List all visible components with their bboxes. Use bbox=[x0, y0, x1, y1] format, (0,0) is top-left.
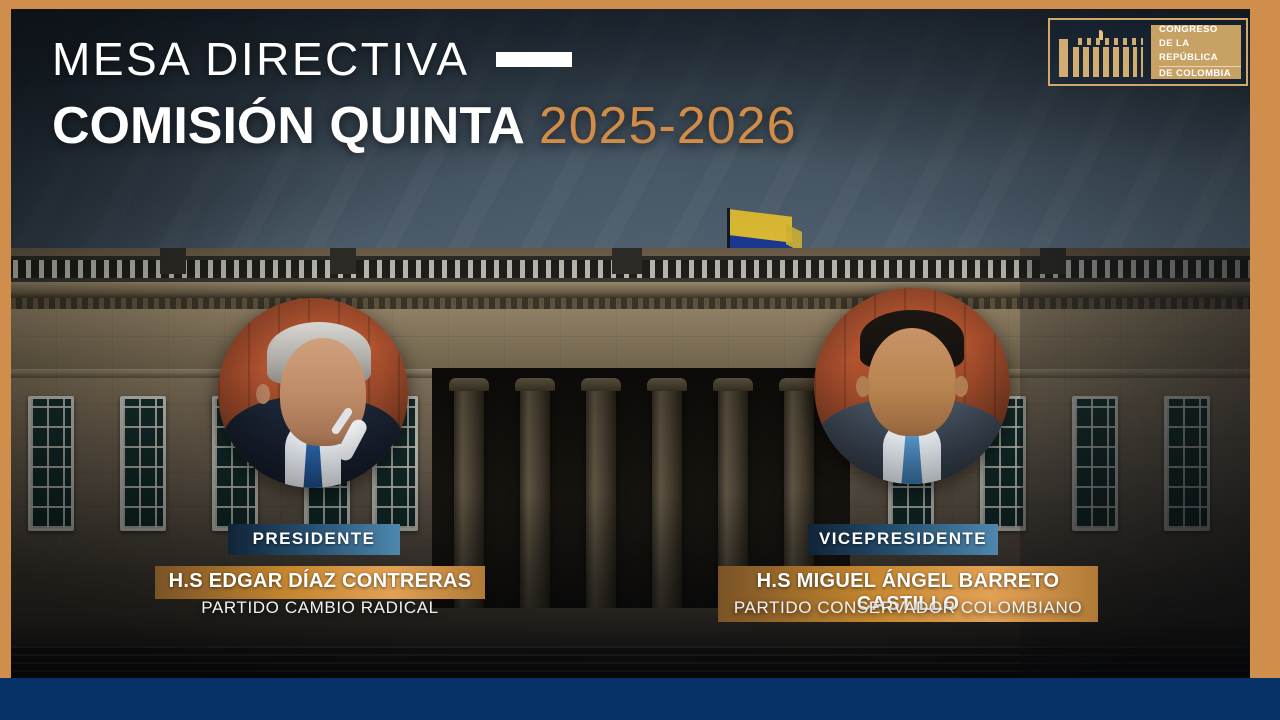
page-title: MESA DIRECTIVA COMISIÓN QUINTA2025-2026 bbox=[52, 36, 797, 152]
portrait-president bbox=[218, 298, 408, 488]
logo-line-1: CONGRESO bbox=[1159, 23, 1241, 37]
member-card-vicepresident bbox=[814, 288, 1010, 484]
portrait-vignette bbox=[218, 298, 408, 488]
capitol-building-icon bbox=[1055, 25, 1151, 79]
title-years: 2025-2026 bbox=[539, 97, 797, 155]
slide-canvas: MESA DIRECTIVA COMISIÓN QUINTA2025-2026 … bbox=[0, 0, 1280, 720]
frame-border-left bbox=[0, 0, 11, 678]
logo-line-2: DE LA REPÚBLICA bbox=[1159, 37, 1241, 67]
party-president: PARTIDO CAMBIO RADICAL bbox=[155, 598, 485, 618]
portrait-vicepresident bbox=[814, 288, 1010, 484]
title-line-1: MESA DIRECTIVA bbox=[52, 36, 470, 82]
logo-line-3: DE COLOMBIA bbox=[1159, 67, 1241, 81]
portrait-vignette bbox=[814, 288, 1010, 484]
title-line-2: COMISIÓN QUINTA bbox=[52, 97, 525, 155]
role-badge-vicepresident: VICEPRESIDENTE bbox=[808, 524, 998, 555]
name-bar-president: H.S EDGAR DÍAZ CONTRERAS bbox=[155, 566, 485, 599]
logo-text: CONGRESO DE LA REPÚBLICA DE COLOMBIA bbox=[1151, 25, 1241, 79]
bottom-bar bbox=[0, 678, 1280, 720]
congress-logo[interactable]: CONGRESO DE LA REPÚBLICA DE COLOMBIA bbox=[1048, 18, 1248, 86]
member-card-president bbox=[218, 298, 408, 488]
role-badge-president: PRESIDENTE bbox=[228, 524, 400, 555]
frame-border-top bbox=[0, 0, 1280, 9]
frame-border-right bbox=[1250, 0, 1280, 678]
title-dash-icon bbox=[496, 52, 572, 67]
party-vicepresident: PARTIDO CONSERVADOR COLOMBIANO bbox=[718, 598, 1098, 618]
